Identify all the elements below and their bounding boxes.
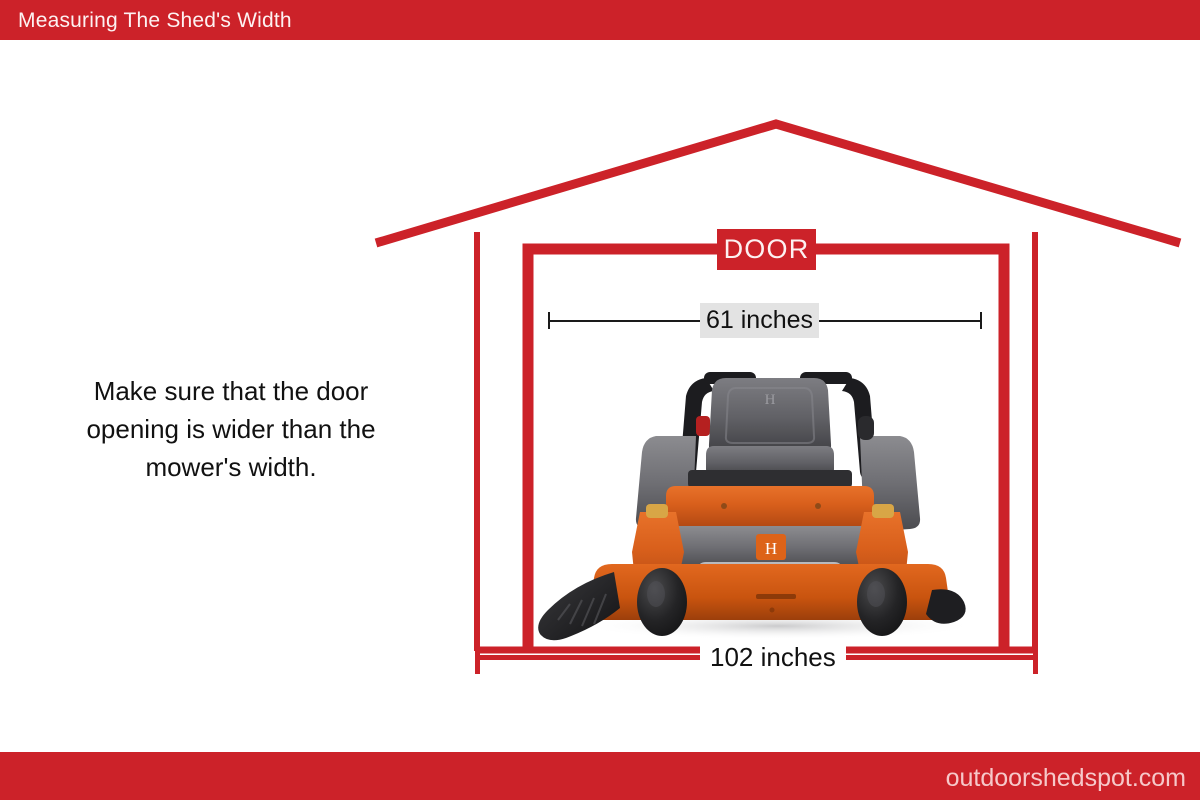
mower-image: H H — [528, 358, 1012, 644]
shed-roof-line — [376, 124, 1180, 243]
instruction-caption: Make sure that the door opening is wider… — [48, 372, 414, 486]
shed-width-dimension-label: 102 inches — [700, 638, 846, 676]
page-title: Measuring The Shed's Width — [18, 8, 292, 33]
door-label-badge: DOOR — [717, 229, 816, 270]
caster-hub-right — [867, 581, 885, 607]
brand-mark-plate: H — [765, 539, 777, 558]
caster-cap-left — [646, 504, 668, 518]
mower-lever-left — [696, 416, 710, 436]
site-watermark: outdoorshedspot.com — [946, 764, 1186, 792]
brand-mark-seat: H — [765, 392, 776, 408]
deck-rivet-2 — [770, 608, 775, 613]
shed-width-tick-right — [1033, 638, 1038, 674]
deck-label-strip — [756, 594, 796, 599]
mower-lever-right — [858, 416, 874, 440]
deck-bumper-right — [926, 589, 966, 624]
door-width-tick-right — [980, 312, 982, 329]
shed-width-tick-left — [475, 638, 480, 674]
door-width-dimension-label: 61 inches — [700, 303, 819, 338]
mower-svg: H H — [528, 358, 1012, 644]
mower-engine-block — [688, 470, 852, 488]
door-width-tick-left — [548, 312, 550, 329]
caster-hub-left — [647, 581, 665, 607]
mower-bolt-left — [721, 503, 727, 509]
caster-cap-right — [872, 504, 894, 518]
mower-body-panel — [666, 486, 874, 526]
mower-bolt-right — [815, 503, 821, 509]
